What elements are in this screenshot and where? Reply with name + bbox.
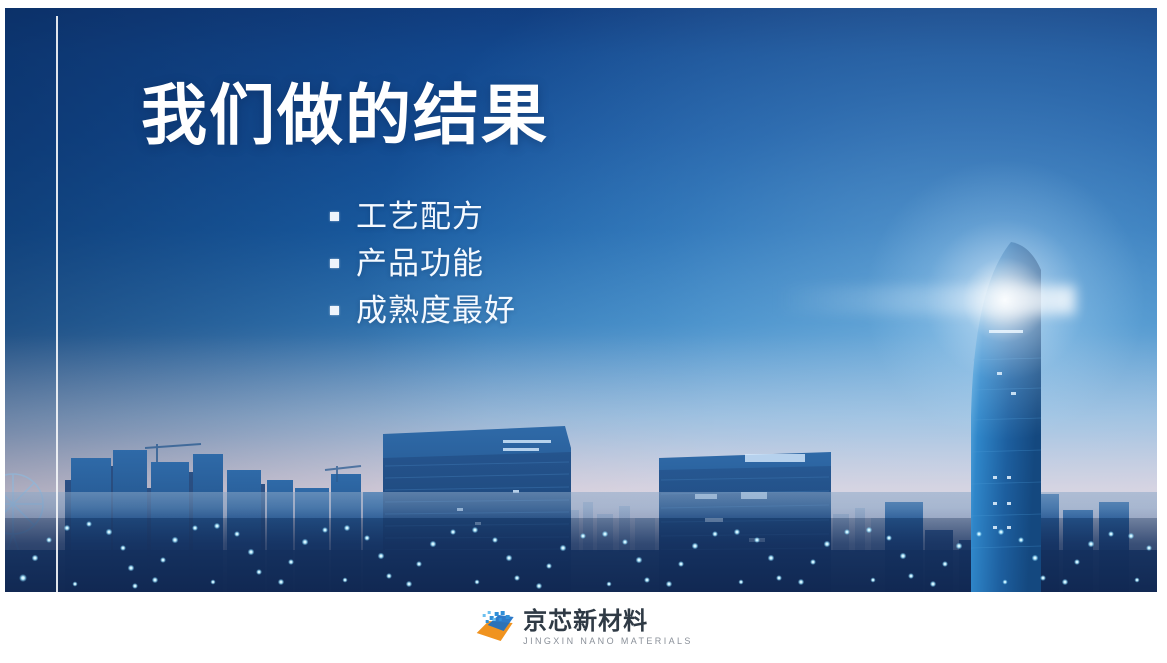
bullet-list: 工艺配方 产品功能 成熟度最好	[330, 193, 516, 334]
left-divider-rule	[56, 16, 58, 592]
square-bullet-icon	[330, 212, 339, 221]
brand-name-cn: 京芯新材料	[523, 609, 693, 634]
slide: 我们做的结果 工艺配方 产品功能 成熟度最好	[0, 0, 1167, 663]
sun-flare	[1005, 300, 1007, 302]
slide-edge-left	[0, 0, 5, 663]
square-bullet-icon	[330, 259, 339, 268]
list-item: 工艺配方	[330, 193, 516, 240]
list-item-label: 产品功能	[356, 248, 484, 279]
list-item-label: 成熟度最好	[356, 295, 516, 326]
square-bullet-icon	[330, 306, 339, 315]
page-title: 我们做的结果	[141, 78, 549, 154]
brand-lockup: 京芯新材料 JINGXIN NANO MATERIALS	[474, 609, 693, 647]
slide-edge-top	[0, 0, 1167, 8]
network-dot-overlay	[5, 482, 1157, 592]
slide-edge-right	[1157, 0, 1167, 663]
brand-text: 京芯新材料 JINGXIN NANO MATERIALS	[523, 609, 693, 647]
footer-bar: 京芯新材料 JINGXIN NANO MATERIALS	[0, 592, 1167, 663]
brand-name-en: JINGXIN NANO MATERIALS	[523, 636, 693, 647]
list-item: 产品功能	[330, 240, 516, 287]
list-item-label: 工艺配方	[356, 201, 484, 232]
company-logo-icon	[474, 611, 514, 644]
list-item: 成熟度最好	[330, 287, 516, 334]
